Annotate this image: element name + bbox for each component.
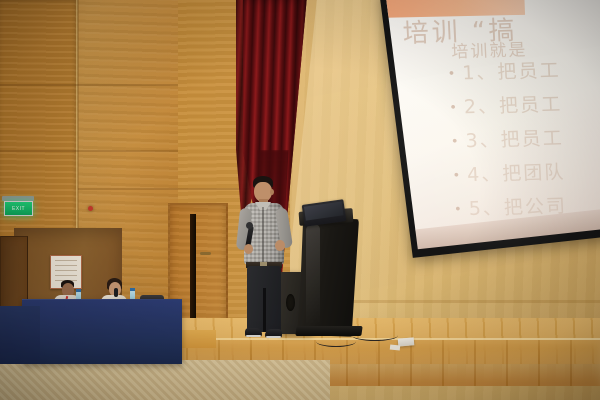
door-center-gap	[190, 214, 196, 326]
slide-bullet-list: 1、把员工 2、把员工 3、把员工 4、把团队 5、把公司	[447, 56, 568, 229]
wall-seam	[0, 150, 178, 152]
shoe-sole	[246, 335, 261, 337]
projection-screen-frame: 培训 “搞 培训就是 1、把员工 2、把员工 3、把员工 4、把团队 5、把公司	[379, 0, 600, 258]
presenter-ear	[270, 189, 274, 195]
wall-seam	[0, 84, 178, 86]
slide-bullet: 4、把团队	[452, 157, 566, 187]
exit-sign-label: EXIT	[12, 206, 25, 212]
projection-screen-surface: 培训 “搞 培训就是 1、把员工 2、把员工 3、把员工 4、把团队 5、把公司	[386, 0, 600, 231]
panel-table-cloth	[22, 300, 182, 364]
bottle-cap	[130, 288, 135, 291]
fire-alarm-icon	[88, 206, 93, 211]
panel-table-cloth-left	[0, 306, 40, 364]
presenter-left-shoe	[245, 328, 262, 337]
slide-bullet: 1、把员工	[447, 56, 561, 86]
shoe-sole	[266, 336, 281, 338]
door-handle-icon[interactable]	[200, 252, 211, 255]
bottle-cap	[76, 289, 81, 292]
presenter-shirt-placket	[262, 207, 264, 263]
exit-sign-icon: EXIT	[4, 201, 33, 216]
floor-cable	[352, 330, 398, 341]
handheld-microphone-icon	[114, 288, 118, 297]
microphone-head-icon	[246, 222, 253, 229]
slide-bullet: 2、把员工	[449, 89, 563, 119]
presenter-right-shoe	[265, 329, 282, 338]
slide-bullet: 3、把员工	[450, 123, 564, 153]
auditorium-photo: 培训 “搞 培训就是 1、把员工 2、把员工 3、把员工 4、把团队 5、把公司…	[0, 0, 600, 400]
presenter-right-hand	[275, 240, 285, 251]
floor-cable	[316, 336, 356, 347]
lectern-sheen	[306, 224, 320, 329]
presenter	[236, 176, 292, 348]
presenter-left-hand	[244, 244, 253, 254]
wall-seam	[78, 188, 258, 190]
floor-carpet	[0, 360, 330, 400]
floor-cable-box-secondary	[390, 344, 400, 350]
presenter-leg-split	[263, 288, 266, 332]
laptop-screen	[304, 201, 344, 220]
